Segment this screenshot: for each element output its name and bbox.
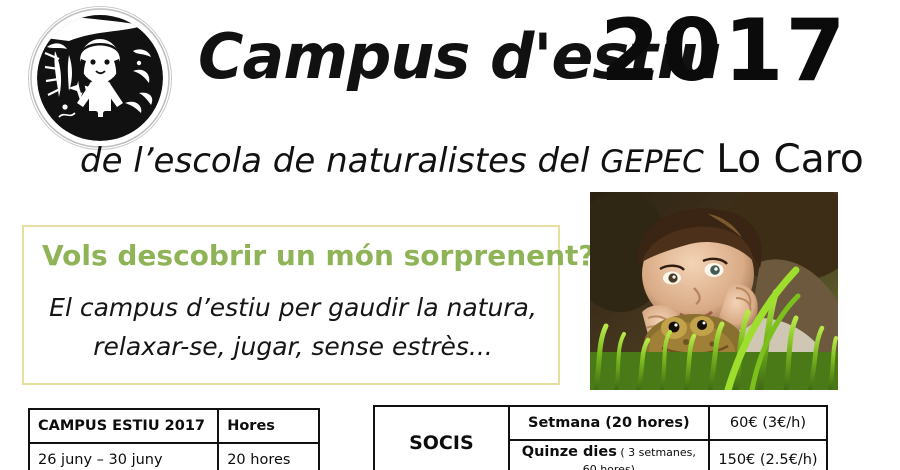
callout-line-2: relaxar-se, jugar, sense estrès... [24, 328, 562, 367]
poster-root: Campus d'estiu 2017 de l’escola de natur… [0, 0, 900, 470]
subtitle-place: Lo Caro [704, 137, 864, 182]
table-row: 26 juny – 30 juny 20 hores [29, 443, 319, 470]
callout-body: El campus d’estiu per gaudir la natura, … [24, 289, 562, 367]
schedule-dates: 26 juny – 30 juny [29, 443, 218, 470]
price-option-label-1-main: Setmana (20 hores) [528, 415, 690, 431]
callout-line-1: El campus d’estiu per gaudir la natura, [24, 289, 562, 328]
price-option-label-1: Setmana (20 hores) [509, 406, 709, 440]
poster-header: Campus d'estiu 2017 de l’escola de natur… [0, 0, 900, 190]
callout-box: Vols descobrir un món sorprenent? El cam… [22, 225, 560, 385]
price-value-1: 60€ (3€/h) [709, 406, 827, 440]
photo-child-with-frog [590, 192, 838, 390]
title-year: 2017 [600, 8, 847, 94]
subtitle-org: GEPEC [600, 144, 704, 180]
gepec-logo-icon [28, 6, 172, 150]
schedule-header-campus: CAMPUS ESTIU 2017 [29, 409, 218, 443]
subtitle: de l’escola de naturalistes del GEPEC Lo… [80, 140, 864, 179]
schedule-table: CAMPUS ESTIU 2017 Hores 26 juny – 30 jun… [28, 408, 320, 470]
table-row: CAMPUS ESTIU 2017 Hores [29, 409, 319, 443]
price-option-label-2-main: Quinze dies [522, 444, 617, 460]
price-category-socis: SOCIS [374, 406, 509, 470]
table-row: SOCIS Setmana (20 hores) 60€ (3€/h) [374, 406, 827, 440]
schedule-header-hores: Hores [218, 409, 319, 443]
price-option-label-2: Quinze dies ( 3 setmanes, 60 hores) [509, 440, 709, 470]
callout-heading: Vols descobrir un món sorprenent? [42, 239, 595, 272]
price-value-2: 150€ (2.5€/h) [709, 440, 827, 470]
price-table: SOCIS Setmana (20 hores) 60€ (3€/h) Quin… [373, 405, 828, 470]
subtitle-prefix: de l’escola de naturalistes del [80, 141, 600, 181]
schedule-hours: 20 hores [218, 443, 319, 470]
